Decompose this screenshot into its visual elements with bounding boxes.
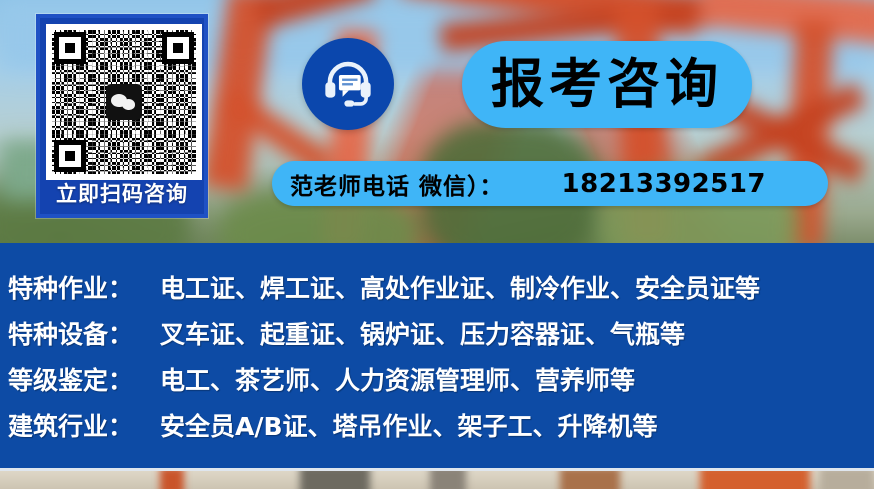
contact-label: 范老师电话 微信）： bbox=[290, 167, 504, 201]
category-items: 安全员A/B证、塔吊作业、架子工、升降机等 bbox=[160, 407, 658, 443]
category-items: 电工、茶艺师、人力资源管理师、营养师等 bbox=[160, 361, 635, 397]
background-photo-banner: 立即扫码咨询 报考咨询 范老师电话 微信）： 18213392517 bbox=[0, 0, 874, 243]
category-items: 叉车证、起重证、锅炉证、压力容器证、气瓶等 bbox=[160, 315, 685, 351]
qr-caption-label: 立即扫码咨询 bbox=[40, 176, 204, 212]
list-item: 等级鉴定： 电工、茶艺师、人力资源管理师、营养师等 bbox=[8, 361, 874, 407]
qr-finder-bottom-left bbox=[54, 140, 86, 172]
list-item: 特种设备： 叉车证、起重证、锅炉证、压力容器证、气瓶等 bbox=[8, 315, 874, 361]
contact-pill[interactable]: 范老师电话 微信）： 18213392517 bbox=[272, 161, 828, 206]
category-name: 等级鉴定： bbox=[8, 361, 160, 397]
qr-finder-top-right bbox=[162, 32, 194, 64]
bottom-photo-strip bbox=[0, 471, 874, 489]
qr-matrix bbox=[52, 30, 196, 174]
promo-poster: 立即扫码咨询 报考咨询 范老师电话 微信）： 18213392517 bbox=[0, 0, 874, 489]
category-name: 特种设备： bbox=[8, 315, 160, 351]
consult-title-label: 报考咨询 bbox=[491, 58, 723, 111]
qr-code-card[interactable]: 立即扫码咨询 bbox=[36, 14, 208, 218]
category-name: 建筑行业： bbox=[8, 407, 160, 443]
contact-phone-number: 18213392517 bbox=[562, 169, 767, 199]
wechat-logo-icon bbox=[106, 84, 142, 120]
qr-finder-top-left bbox=[54, 32, 86, 64]
headset-support-icon bbox=[302, 38, 394, 130]
consult-title-pill[interactable]: 报考咨询 bbox=[462, 41, 752, 128]
category-list-panel: 特种作业： 电工证、焊工证、高处作业证、制冷作业、安全员证等 特种设备： 叉车证… bbox=[0, 243, 874, 468]
category-name: 特种作业： bbox=[8, 269, 160, 305]
list-item: 特种作业： 电工证、焊工证、高处作业证、制冷作业、安全员证等 bbox=[8, 269, 874, 315]
list-item: 建筑行业： 安全员A/B证、塔吊作业、架子工、升降机等 bbox=[8, 407, 874, 453]
category-items: 电工证、焊工证、高处作业证、制冷作业、安全员证等 bbox=[160, 269, 760, 305]
qr-code-image bbox=[46, 24, 202, 180]
